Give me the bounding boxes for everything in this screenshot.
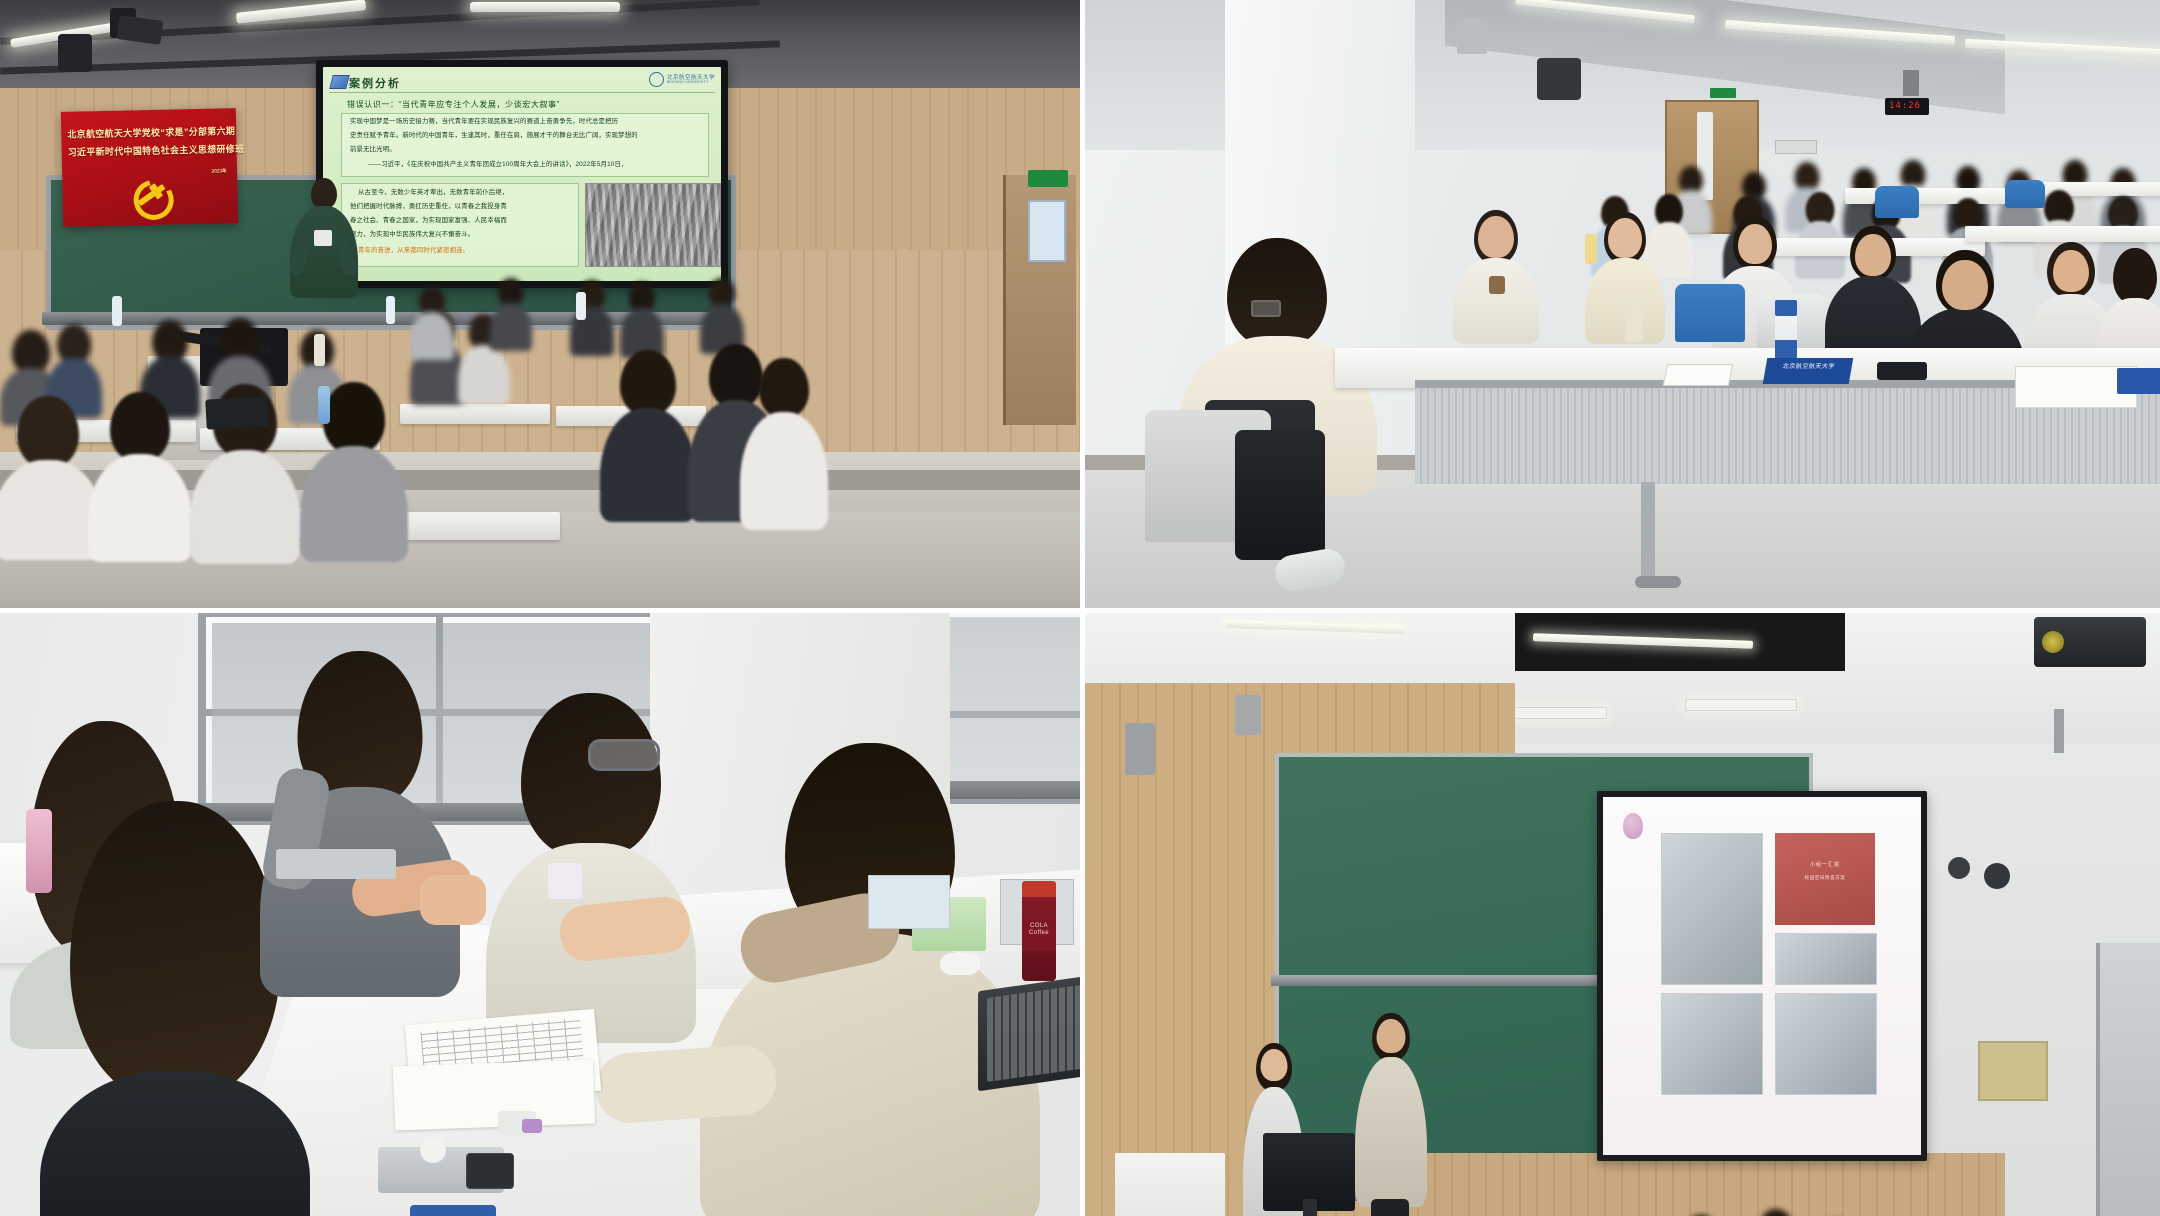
student: [1745, 1209, 1807, 1216]
slide-title: 案例分析: [349, 75, 401, 91]
logo-ring-icon: [649, 72, 664, 87]
glasses-icon: [588, 739, 660, 771]
panel-top-left[interactable]: 北京航空航天大学党校“求是”分部第六期 习近平新时代中国特色社会主义思想研修班 …: [0, 0, 1080, 608]
clock-time: 14:26: [1885, 98, 1929, 115]
audience-member: [600, 350, 696, 520]
slide-box2-line: 青年的奋进，从来都同时代紧密相连。: [358, 248, 572, 254]
paper-sheet: [393, 1060, 595, 1131]
ceiling-hanger: [1903, 70, 1919, 96]
tablet: [205, 396, 268, 429]
projection-screen: 案例分析 北京航空航天大学 BEIHANG UNIVERSITY 错误认识一：“…: [316, 60, 728, 288]
security-camera: [1948, 857, 1970, 879]
name-card-text: 北京航空航天大学: [1765, 358, 1853, 370]
chair: [2005, 180, 2045, 208]
banner-date: 2023年: [211, 168, 226, 175]
keyboard: [276, 849, 396, 879]
slide-red-card-line2: 校园空间改造方案: [1775, 875, 1875, 881]
slide-red-card-line1: 小组一汇报: [1775, 861, 1875, 868]
wood-wainscot: [1385, 1153, 2005, 1216]
slide-body-line: 实现中国梦是一场历史接力赛，当代青年要在实现民族复兴的赛道上奋勇争先，时代总是把…: [350, 119, 702, 125]
university-logo: 北京航空航天大学 BEIHANG UNIVERSITY: [649, 72, 715, 87]
wall-speaker: [1235, 695, 1261, 735]
audience-member: [300, 382, 408, 560]
slide-source-line: ——习近平，《在庆祝中国共产主义青年团成立100周年大会上的讲话》，2022年5…: [368, 162, 702, 168]
slide-box2-line: 从古至今，无数少年英才辈出，无数青年前仆后继，: [358, 190, 572, 196]
exit-sign: [1710, 88, 1736, 98]
water-bottle: [576, 292, 586, 320]
marker: [522, 1119, 542, 1133]
audience-member: [490, 278, 532, 348]
presenter: [288, 178, 360, 296]
smartphone: [466, 1153, 514, 1189]
digital-clock: 14:26: [1885, 98, 1929, 115]
security-camera: [1984, 863, 2010, 889]
slide-question: 错误认识一：“当代青年应专注个人发展，少谈宏大叙事”: [347, 99, 709, 110]
student-smiling: [486, 693, 696, 1013]
banner-line-2: 习近平新时代中国特色社会主义思想研修班: [68, 144, 231, 160]
exit-sign: [1028, 170, 1068, 187]
slide-secondary-box: 从古至今，无数少年英才辈出，无数青年前仆后继， 他们把握时代脉搏，勇扛历史重任，…: [341, 183, 579, 267]
audience-member: [740, 358, 828, 530]
panel-bottom-right[interactable]: 小组一汇报 校园空间改造方案: [1080, 608, 2160, 1216]
side-door[interactable]: [2096, 943, 2160, 1216]
table-leg: [1641, 482, 1655, 582]
logo-name: 北京航空航天大学 BEIHANG UNIVERSITY: [667, 75, 715, 85]
slide-photo-3: [1661, 993, 1763, 1095]
paper-note: [868, 875, 950, 929]
forearm: [594, 1043, 778, 1125]
table-foot: [1635, 576, 1681, 588]
ceiling-panel: [1685, 699, 1797, 711]
student-desk: [1965, 226, 2160, 242]
slide-photo-2: [1775, 933, 1877, 985]
banner-line-1: 北京航空航天大学党校“求是”分部第六期: [67, 126, 230, 142]
drink-bottle: COLA Coffee: [1022, 881, 1056, 981]
audience-member: [88, 392, 192, 560]
student-listening: [1453, 210, 1539, 338]
thermos: [26, 809, 52, 893]
balloon-decoration-icon: [1623, 813, 1643, 839]
seminar-room-scene: 14:26: [1085, 0, 2160, 608]
chair: [1875, 186, 1919, 218]
room-number-plate: [1775, 140, 1817, 154]
smartphone: [1877, 362, 1927, 380]
wall-notice: [1028, 200, 1066, 262]
id-card: [410, 1205, 496, 1216]
drink-label: COLA Coffee: [1022, 921, 1056, 937]
panel-bottom-left[interactable]: COLA Coffee: [0, 608, 1080, 1216]
water-bottle: [112, 296, 122, 326]
thermos: [314, 334, 325, 366]
ceiling-light: [470, 2, 620, 12]
slide-historical-photo: [585, 183, 721, 267]
projector-lens: [2042, 631, 2064, 653]
slide-body-line: 前景无比光明。: [350, 147, 702, 153]
audience-member: [620, 282, 664, 356]
water-bottle: [386, 296, 395, 324]
watch-face: [420, 1137, 446, 1163]
slide-title-underline: [329, 92, 715, 93]
slide-red-card: 小组一汇报 校园空间改造方案: [1775, 833, 1875, 925]
audience-member: [410, 286, 454, 358]
hand: [420, 875, 486, 925]
water-bottle: [318, 386, 330, 424]
projector-mount: [2054, 709, 2064, 753]
presenter-male: [1355, 1013, 1427, 1216]
photo-collage: 北京航空航天大学党校“求是”分部第六期 习近平新时代中国特色社会主义思想研修班 …: [0, 0, 2160, 1216]
book-icon: [329, 75, 349, 89]
laptop: [978, 975, 1080, 1092]
audience-member: [0, 396, 102, 556]
drink-bottle: [1585, 234, 1597, 264]
earbuds-case: [940, 953, 980, 975]
wall-sign: [1978, 1041, 2048, 1101]
chair: [1675, 284, 1745, 342]
monitor-stand: [1303, 1199, 1317, 1216]
wall-box: [1457, 18, 1487, 54]
blue-folder: [2117, 368, 2160, 394]
lecture-hall-scene: 北京航空航天大学党校“求是”分部第六期 习近平新时代中国特色社会主义思想研修班 …: [0, 0, 1080, 608]
name-card: 北京航空航天大学: [1763, 358, 1854, 384]
small-box: [548, 863, 582, 899]
hammer-and-sickle-icon: [127, 176, 174, 217]
slide-box2-line: 春之社会、青春之国家，为实现国家富强、人民幸福而: [350, 218, 572, 224]
speaker: [1537, 58, 1581, 100]
presentation-hall-scene: 小组一汇报 校园空间改造方案: [1085, 613, 2160, 1216]
speaker: [58, 34, 92, 72]
name-card: [1663, 364, 1734, 386]
slide-content: 案例分析 北京航空航天大学 BEIHANG UNIVERSITY 错误认识一：“…: [323, 67, 721, 281]
slide-photo-4: [1775, 993, 1877, 1095]
logo-name-en: BEIHANG UNIVERSITY: [667, 81, 715, 85]
slide-body-line: 史责任赋予青年。新时代的中国青年，生逢其时，重任在肩，施展才干的舞台无比广阔，实…: [350, 133, 702, 139]
trousers: [1235, 430, 1325, 560]
slide-photo-1: [1661, 833, 1763, 985]
audience-member: [700, 278, 744, 352]
student-talking: [260, 651, 460, 981]
red-banner: 北京航空航天大学党校“求是”分部第六期 习近平新时代中国特色社会主义思想研修班 …: [61, 108, 238, 227]
student-desk: [400, 404, 550, 424]
lectern: [1115, 1153, 1225, 1216]
slide-box2-line: 努力，为实现中华民族伟大复兴不懈奋斗。: [350, 232, 572, 238]
panel-top-right[interactable]: 14:26: [1080, 0, 2160, 608]
ceiling-projector: [2034, 617, 2146, 667]
slide-content: 小组一汇报 校园空间改造方案: [1603, 797, 1921, 1155]
wall-speaker: [1125, 723, 1155, 775]
group-discussion-scene: COLA Coffee: [0, 613, 1080, 1216]
glasses-icon: [1251, 300, 1281, 317]
slide-quote-box: 实现中国梦是一场历史接力赛，当代青年要在实现民族复兴的赛道上奋勇争先，时代总是把…: [341, 113, 709, 177]
projection-screen: 小组一汇报 校园空间改造方案: [1597, 791, 1927, 1161]
slide-box2-line: 他们把握时代脉搏，勇扛历史重任，以青春之我投身青: [350, 204, 572, 210]
student-back-view: [700, 743, 1040, 1213]
thermos: [1625, 300, 1643, 342]
